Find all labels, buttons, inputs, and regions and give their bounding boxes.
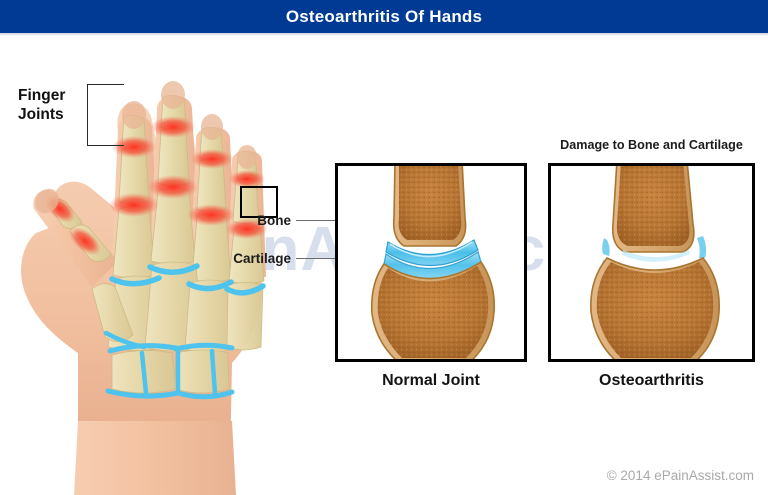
upper-bone-damaged [613,166,694,252]
finger-joints-bracket-tick-top [114,84,124,85]
diagram-page: Osteoarthritis Of Hands ePainAssist.com [0,0,768,495]
normal-joint-panel [335,163,527,362]
finger-joints-label-line1: Finger [18,86,96,105]
upper-bone [394,166,466,246]
finger-joints-bracket [87,84,115,146]
lower-bone-damaged [591,258,719,359]
bone-label: Bone [225,213,291,228]
cartilage-label: Cartilage [218,251,291,266]
normal-joint-caption: Normal Joint [335,372,527,390]
finger-joints-label: Finger Joints [18,86,96,124]
finger-joints-label-line2: Joints [18,105,96,124]
page-title: Osteoarthritis Of Hands [0,0,768,33]
copyright-text: © 2014 ePainAssist.com [607,468,754,483]
osteoarthritis-joint-panel [548,163,755,362]
finger-joints-bracket-tick-bottom [114,145,124,146]
osteoarthritis-caption: Osteoarthritis [548,372,755,390]
damage-heading: Damage to Bone and Cartilage [535,138,768,152]
